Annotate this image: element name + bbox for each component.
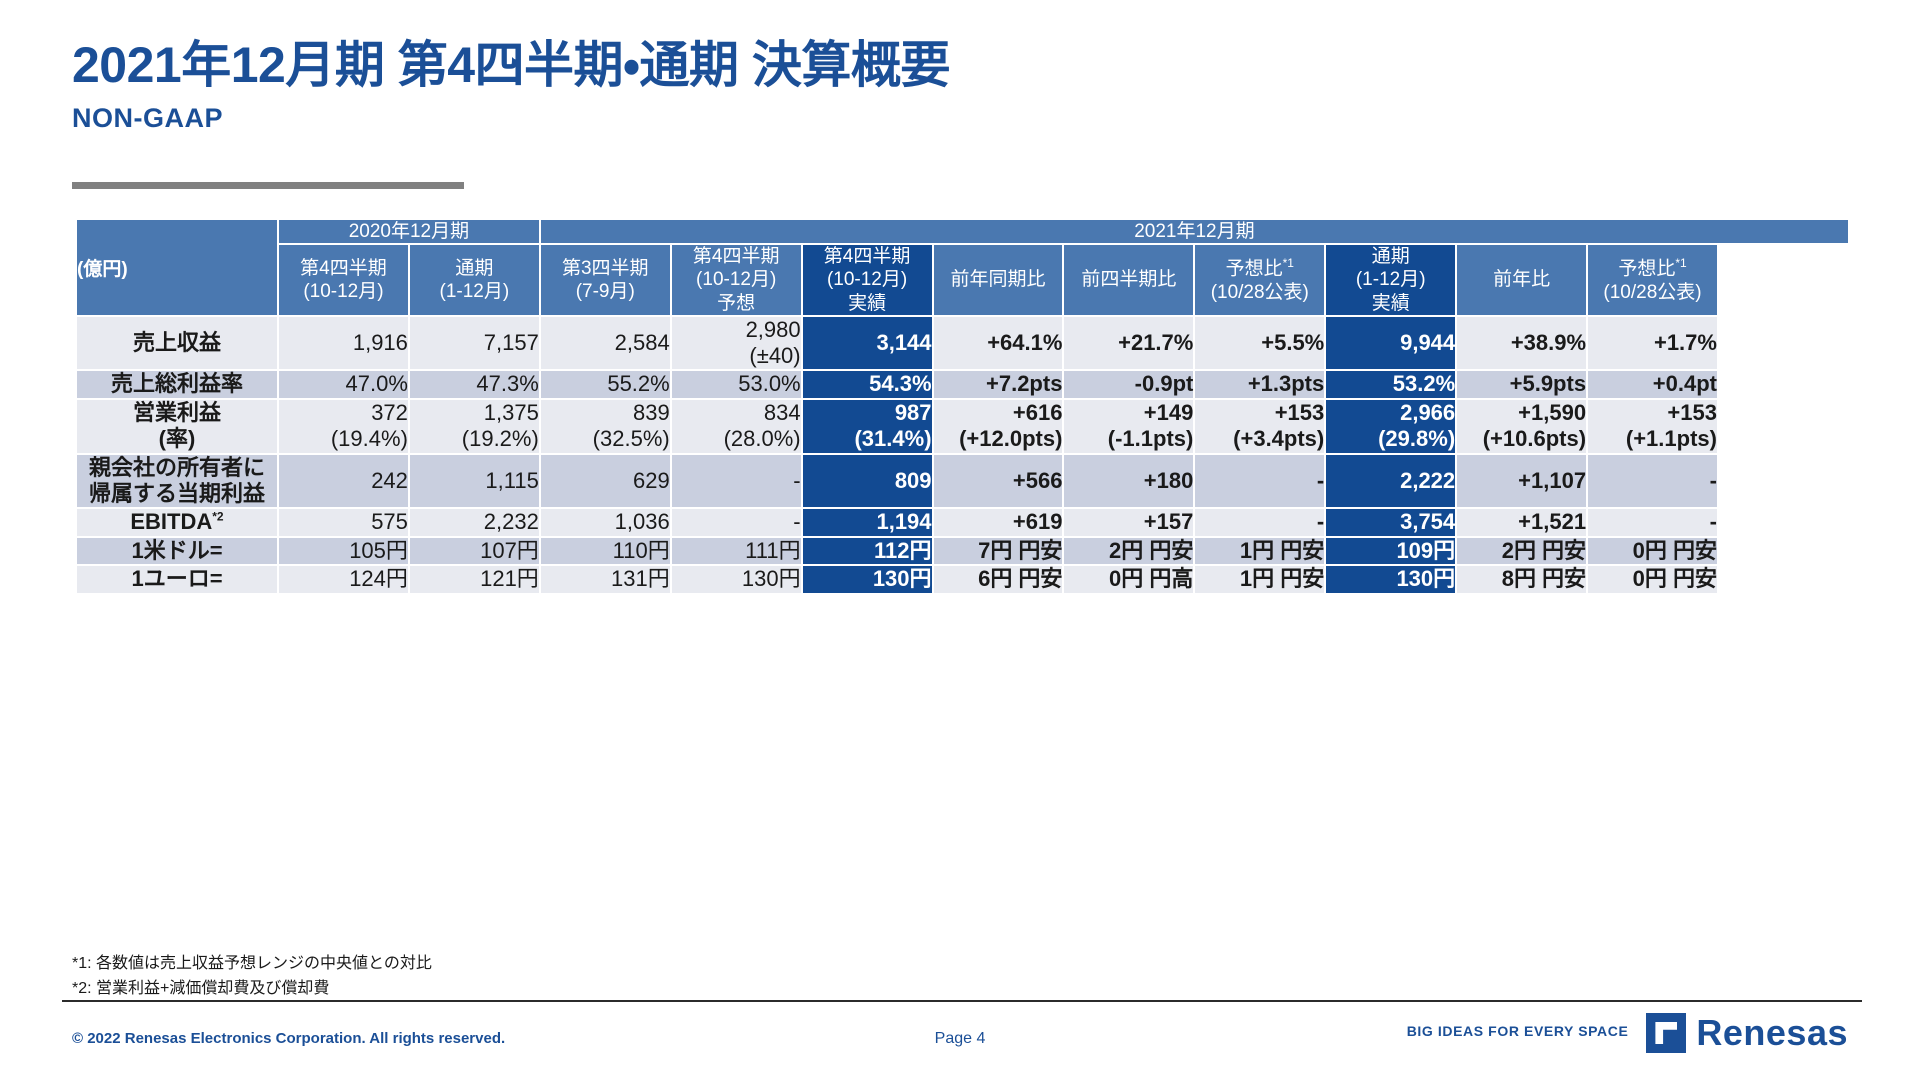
- renesas-logo: Renesas: [1646, 1012, 1848, 1054]
- cell-r4-c3: 629: [541, 455, 670, 508]
- cell-r3-c5: 987 (31.4%): [803, 400, 932, 453]
- cell-r5-c7: +157: [1064, 509, 1193, 535]
- table-header: (億円)2020年12月期2021年12月期 第4四半期(10-12月)通期(1…: [77, 220, 1848, 315]
- cell-r4-c8: -: [1195, 455, 1324, 508]
- cell-r7-c8: 1円 円安: [1195, 566, 1324, 592]
- cell-r7-c7: 0円 円高: [1064, 566, 1193, 592]
- cell-r4-c2: 1,115: [410, 455, 539, 508]
- cell-r7-c10: 8円 円安: [1457, 566, 1586, 592]
- renesas-logo-text: Renesas: [1696, 1012, 1848, 1054]
- table-row: 売上収益1,9167,1572,5842,980 (±40)3,144+64.1…: [77, 317, 1848, 370]
- column-header-8: 予想比*1(10/28公表): [1195, 245, 1324, 315]
- cell-r2-c2: 47.3%: [410, 371, 539, 397]
- cell-r1-c3: 2,584: [541, 317, 670, 370]
- cell-r5-c2: 2,232: [410, 509, 539, 535]
- cell-r1-c10: +38.9%: [1457, 317, 1586, 370]
- footnote-1: *1: 各数値は売上収益予想レンジの中央値との対比: [72, 952, 432, 977]
- cell-r5-c6: +619: [934, 509, 1063, 535]
- cell-r2-c10: +5.9pts: [1457, 371, 1586, 397]
- table-row: 親会社の所有者に帰属する当期利益2421,115629-809+566+180-…: [77, 455, 1848, 508]
- cell-r6-c3: 110円: [541, 538, 670, 564]
- cell-r2-c9: 53.2%: [1326, 371, 1455, 397]
- cell-r6-c5: 112円: [803, 538, 932, 564]
- cell-r2-c6: +7.2pts: [934, 371, 1063, 397]
- cell-r1-c1: 1,916: [279, 317, 408, 370]
- cell-r2-c11: +0.4pt: [1588, 371, 1717, 397]
- cell-r6-c7: 2円 円安: [1064, 538, 1193, 564]
- cell-r3-c4: 834 (28.0%): [672, 400, 801, 453]
- cell-r7-c6: 6円 円安: [934, 566, 1063, 592]
- cell-r6-c9: 109円: [1326, 538, 1455, 564]
- cell-r4-c10: +1,107: [1457, 455, 1586, 508]
- cell-r2-c7: -0.9pt: [1064, 371, 1193, 397]
- cell-r3-c6: +616 (+12.0pts): [934, 400, 1063, 453]
- row-label-7: 1ユーロ=: [77, 566, 277, 592]
- cell-r7-c3: 131円: [541, 566, 670, 592]
- cell-r5-c10: +1,521: [1457, 509, 1586, 535]
- cell-r5-c11: -: [1588, 509, 1717, 535]
- cell-r6-c11: 0円 円安: [1588, 538, 1717, 564]
- group-header-1: 2020年12月期: [279, 220, 539, 243]
- title-divider: [72, 182, 464, 189]
- column-header-6: 前年同期比: [934, 245, 1063, 315]
- cell-r5-c1: 575: [279, 509, 408, 535]
- column-header-3: 第3四半期(7-9月): [541, 245, 670, 315]
- cell-r4-c6: +566: [934, 455, 1063, 508]
- page-title: 2021年12月期 第4四半期・通期 決算概要: [72, 38, 950, 93]
- cell-r3-c8: +153 (+3.4pts): [1195, 400, 1324, 453]
- cell-r1-c8: +5.5%: [1195, 317, 1324, 370]
- cell-r3-c10: +1,590 (+10.6pts): [1457, 400, 1586, 453]
- brand-block: BIG IDEAS FOR EVERY SPACE Renesas: [1407, 1012, 1848, 1054]
- row-label-3: 営業利益(率): [77, 400, 277, 453]
- cell-r4-c5: 809: [803, 455, 932, 508]
- footer-divider: [62, 1000, 1862, 1002]
- cell-r7-c2: 121円: [410, 566, 539, 592]
- cell-r2-c1: 47.0%: [279, 371, 408, 397]
- page-number: Page 4: [935, 1030, 986, 1048]
- cell-r4-c7: +180: [1064, 455, 1193, 508]
- table-row: 営業利益(率)372 (19.4%)1,375 (19.2%)839 (32.5…: [77, 400, 1848, 453]
- cell-r5-c4: -: [672, 509, 801, 535]
- column-header-11: 予想比*1(10/28公表): [1588, 245, 1717, 315]
- cell-r2-c8: +1.3pts: [1195, 371, 1324, 397]
- row-label-4: 親会社の所有者に帰属する当期利益: [77, 455, 277, 508]
- column-header-10: 前年比: [1457, 245, 1586, 315]
- footnote-2: *2: 営業利益+減価償却費及び償却費: [72, 977, 432, 1002]
- cell-r7-c1: 124円: [279, 566, 408, 592]
- cell-r3-c1: 372 (19.4%): [279, 400, 408, 453]
- column-header-4: 第4四半期(10-12月)予想: [672, 245, 801, 315]
- cell-r4-c1: 242: [279, 455, 408, 508]
- cell-r7-c5: 130円: [803, 566, 932, 592]
- cell-r1-c6: +64.1%: [934, 317, 1063, 370]
- cell-r4-c4: -: [672, 455, 801, 508]
- cell-r5-c5: 1,194: [803, 509, 932, 535]
- column-header-1: 第4四半期(10-12月): [279, 245, 408, 315]
- cell-r1-c4: 2,980 (±40): [672, 317, 801, 370]
- brand-tagline: BIG IDEAS FOR EVERY SPACE: [1407, 1023, 1629, 1043]
- cell-r7-c11: 0円 円安: [1588, 566, 1717, 592]
- table-row: EBITDA*25752,2321,036-1,194+619+157-3,75…: [77, 509, 1848, 535]
- financial-table-wrapper: (億円)2020年12月期2021年12月期 第4四半期(10-12月)通期(1…: [75, 218, 1850, 595]
- cell-r3-c9: 2,966 (29.8%): [1326, 400, 1455, 453]
- copyright-text: © 2022 Renesas Electronics Corporation. …: [72, 1030, 505, 1047]
- table-body: 売上収益1,9167,1572,5842,980 (±40)3,144+64.1…: [77, 317, 1848, 593]
- cell-r6-c4: 111円: [672, 538, 801, 564]
- cell-r1-c9: 9,944: [1326, 317, 1455, 370]
- cell-r1-c5: 3,144: [803, 317, 932, 370]
- financial-table: (億円)2020年12月期2021年12月期 第4四半期(10-12月)通期(1…: [75, 218, 1850, 595]
- column-header-2: 通期(1-12月): [410, 245, 539, 315]
- table-row: 売上総利益率47.0%47.3%55.2%53.0%54.3%+7.2pts-0…: [77, 371, 1848, 397]
- slide: 2021年12月期 第4四半期・通期 決算概要 NON-GAAP (億円)202…: [0, 0, 1920, 1080]
- row-label-1: 売上収益: [77, 317, 277, 370]
- cell-r3-c2: 1,375 (19.2%): [410, 400, 539, 453]
- cell-r6-c8: 1円 円安: [1195, 538, 1324, 564]
- cell-r6-c2: 107円: [410, 538, 539, 564]
- cell-r6-c1: 105円: [279, 538, 408, 564]
- cell-r6-c10: 2円 円安: [1457, 538, 1586, 564]
- row-label-6: 1米ドル=: [77, 538, 277, 564]
- cell-r4-c11: -: [1588, 455, 1717, 508]
- cell-r3-c11: +153 (+1.1pts): [1588, 400, 1717, 453]
- group-header-2: 2021年12月期: [541, 220, 1848, 243]
- page-subtitle: NON-GAAP: [72, 103, 950, 134]
- table-row: 1ユーロ=124円121円131円130円130円6円 円安0円 円高1円 円安…: [77, 566, 1848, 592]
- cell-r3-c3: 839 (32.5%): [541, 400, 670, 453]
- column-header-row: 第4四半期(10-12月)通期(1-12月)第3四半期(7-9月)第4四半期(1…: [77, 245, 1848, 315]
- row-label-5: EBITDA*2: [77, 509, 277, 535]
- cell-r6-c6: 7円 円安: [934, 538, 1063, 564]
- title-block: 2021年12月期 第4四半期・通期 決算概要 NON-GAAP: [72, 38, 950, 134]
- cell-r7-c4: 130円: [672, 566, 801, 592]
- cell-r5-c9: 3,754: [1326, 509, 1455, 535]
- cell-r3-c7: +149 (-1.1pts): [1064, 400, 1193, 453]
- column-header-7: 前四半期比: [1064, 245, 1193, 315]
- column-header-9: 通期(1-12月)実績: [1326, 245, 1455, 315]
- column-header-5: 第4四半期(10-12月)実績: [803, 245, 932, 315]
- cell-r5-c8: -: [1195, 509, 1324, 535]
- cell-r5-c3: 1,036: [541, 509, 670, 535]
- cell-r1-c7: +21.7%: [1064, 317, 1193, 370]
- cell-r1-c2: 7,157: [410, 317, 539, 370]
- cell-r7-c9: 130円: [1326, 566, 1455, 592]
- cell-r4-c9: 2,222: [1326, 455, 1455, 508]
- cell-r2-c4: 53.0%: [672, 371, 801, 397]
- group-header-row: (億円)2020年12月期2021年12月期: [77, 220, 1848, 243]
- footnotes: *1: 各数値は売上収益予想レンジの中央値との対比 *2: 営業利益+減価償却費…: [72, 952, 432, 1002]
- row-label-2: 売上総利益率: [77, 371, 277, 397]
- renesas-logo-mark-icon: [1646, 1013, 1686, 1053]
- table-row: 1米ドル=105円107円110円111円112円7円 円安2円 円安1円 円安…: [77, 538, 1848, 564]
- table-unit-label: (億円): [77, 220, 277, 315]
- cell-r2-c5: 54.3%: [803, 371, 932, 397]
- cell-r2-c3: 55.2%: [541, 371, 670, 397]
- cell-r1-c11: +1.7%: [1588, 317, 1717, 370]
